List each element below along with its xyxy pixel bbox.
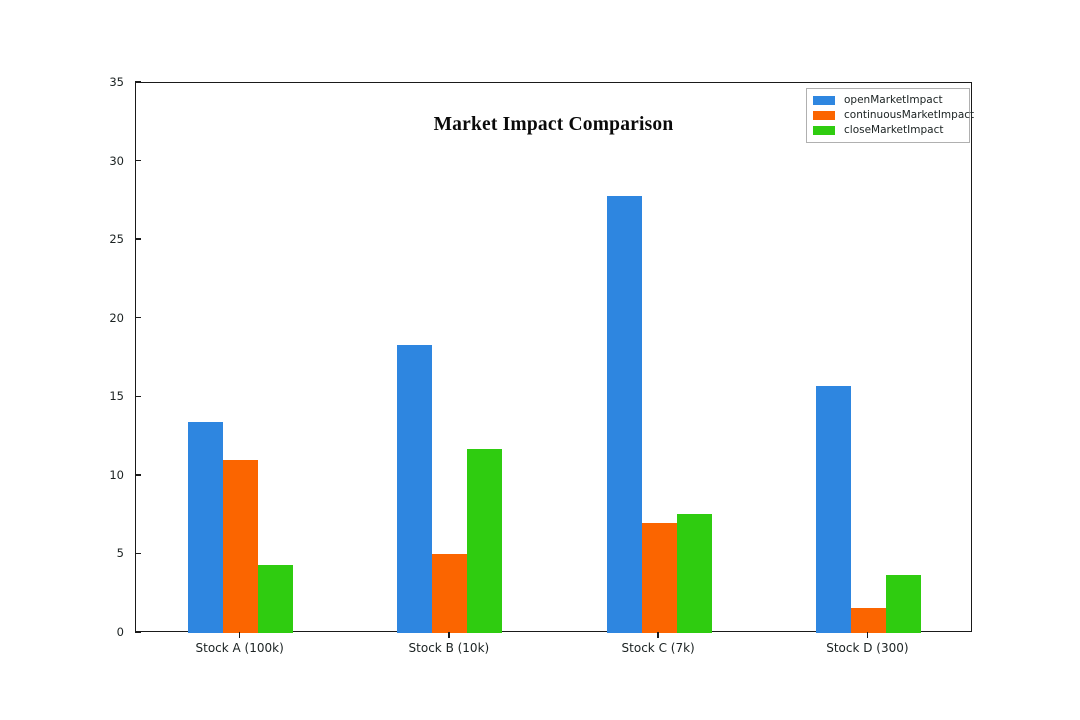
legend-label: closeMarketImpact [844,125,943,136]
y-tick-mark [135,474,141,475]
legend-label: openMarketImpact [844,95,943,106]
y-tick-label: 15 [109,388,124,404]
bar [816,386,851,633]
bar [642,523,677,633]
x-tick-mark [657,632,658,638]
chart-legend: openMarketImpactcontinuousMarketImpactcl… [806,88,970,143]
legend-swatch [813,96,835,105]
y-tick-mark [135,317,141,318]
x-tick-label: Stock A (100k) [195,641,283,655]
x-axis: Stock A (100k)Stock B (10k)Stock C (7k)S… [135,632,972,662]
x-tick-label: Stock C (7k) [622,641,695,655]
bar [607,196,642,633]
legend-item[interactable]: closeMarketImpact [813,124,962,137]
legend-item[interactable]: continuousMarketImpact [813,109,962,122]
y-tick-label: 30 [109,153,124,169]
y-tick-mark [135,396,141,397]
y-tick-label: 35 [109,74,124,90]
legend-item[interactable]: openMarketImpact [813,94,962,107]
bar [851,608,886,633]
y-tick-mark [135,553,141,554]
legend-label: continuousMarketImpact [844,110,974,121]
x-tick-label: Stock B (10k) [409,641,490,655]
bar [397,345,432,633]
y-tick-mark [135,160,141,161]
x-tick-label: Stock D (300) [826,641,908,655]
x-tick-mark [448,632,449,638]
y-tick-label: 0 [117,624,124,640]
y-tick-mark [135,81,141,82]
legend-swatch [813,126,835,135]
y-tick-label: 5 [117,545,124,561]
bar [258,565,293,633]
x-tick-mark [867,632,868,638]
bar [188,422,223,633]
bar [223,460,258,633]
plot-area [135,82,972,632]
y-tick-label: 25 [109,231,124,247]
bar [886,575,921,633]
legend-swatch [813,111,835,120]
chart-figure: Market Impact Comparison 05101520253035 … [0,0,1080,720]
bar [677,514,712,633]
y-tick-label: 20 [109,310,124,326]
y-tick-label: 10 [109,467,124,483]
y-tick-mark [135,238,141,239]
x-tick-mark [239,632,240,638]
bar [432,554,467,633]
bar [467,449,502,633]
bars-layer [136,83,973,633]
